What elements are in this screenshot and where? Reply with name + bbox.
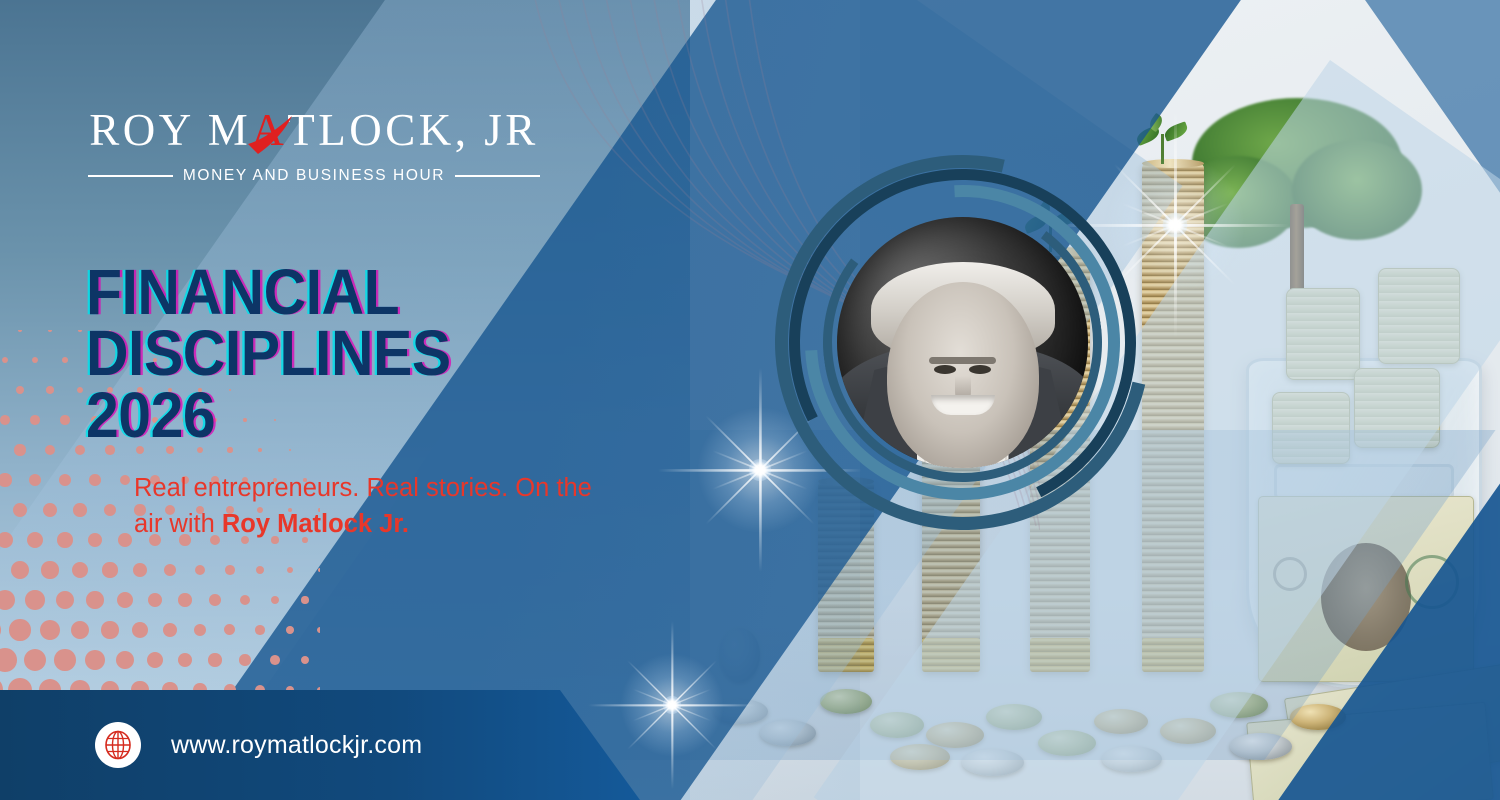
rolled-bill	[1272, 392, 1350, 464]
scattered-coin	[926, 722, 984, 748]
brand-logo: ROY MATLOCK, JR MONEY AND BUSINESS HOUR	[88, 108, 540, 185]
scattered-coin	[1102, 746, 1162, 772]
promo-tagline: Real entrepreneurs. Real stories. On the…	[134, 470, 604, 542]
divider-right	[455, 175, 540, 177]
headline-line-1: FINANCIAL DISCIPLINES	[86, 262, 748, 385]
host-portrait	[775, 155, 1150, 530]
divider-left	[88, 175, 173, 177]
scattered-coin	[890, 744, 950, 770]
scattered-coin	[962, 749, 1024, 776]
tagline-emphasis: Roy Matlock Jr.	[222, 510, 409, 538]
coin-stack	[1142, 164, 1204, 672]
jar-neck	[1274, 464, 1454, 500]
footer-content: www.roymatlockjr.com	[0, 690, 422, 800]
money-tree-icon	[1172, 70, 1422, 300]
promotional-banner: ROY MATLOCK, JR MONEY AND BUSINESS HOUR …	[0, 0, 1500, 800]
brand-name-part1: ROY M	[89, 105, 251, 155]
website-url[interactable]: www.roymatlockjr.com	[171, 731, 422, 760]
scattered-coin	[1290, 704, 1346, 730]
page-title: FINANCIAL DISCIPLINES 2026	[86, 262, 806, 446]
scattered-coin	[1160, 718, 1216, 744]
rolled-bill	[1378, 268, 1460, 364]
rolled-bill	[1354, 368, 1440, 448]
brand-name-accent-letter: A	[251, 108, 287, 153]
scattered-coin	[1230, 733, 1292, 760]
globe-icon	[95, 722, 141, 768]
scattered-coin	[870, 712, 924, 738]
brand-name-part2: TLOCK, JR	[287, 105, 539, 155]
brand-subtitle: MONEY AND BUSINESS HOUR	[183, 167, 445, 185]
headline-line-2: 2026	[86, 385, 748, 446]
scattered-coin	[1038, 730, 1096, 756]
brand-subtitle-row: MONEY AND BUSINESS HOUR	[88, 167, 540, 185]
rolled-bill	[1286, 288, 1360, 380]
scattered-coin	[986, 704, 1042, 730]
brand-name: ROY MATLOCK, JR	[88, 108, 540, 153]
scattered-coin	[1094, 709, 1148, 734]
scattered-coin	[1210, 692, 1268, 718]
dollar-bill	[1258, 496, 1474, 682]
avatar	[837, 217, 1088, 468]
